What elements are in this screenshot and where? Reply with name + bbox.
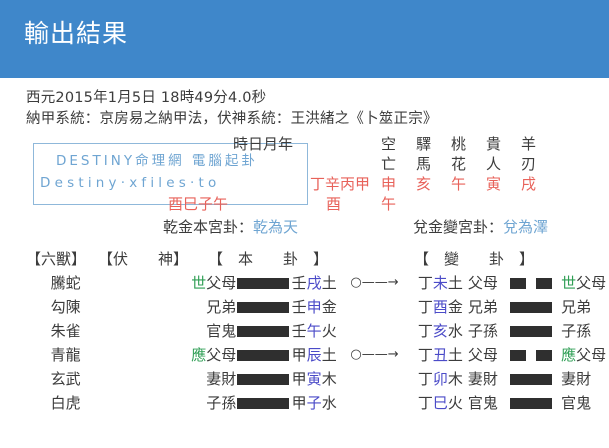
original-hexagram-prefix: 乾金本宮卦：	[163, 218, 253, 236]
changed-yao-line	[505, 350, 558, 361]
main-ganzhi-cell: 壬午火	[290, 319, 340, 343]
shensha-name-top: 空	[380, 134, 397, 154]
main-branch: 戌	[307, 274, 322, 292]
column-header-hidden: 【伏 神】	[98, 247, 208, 271]
system-line: 納甲系統：京房易之納甲法，伏神系統：王洪緒之《卜筮正宗》	[26, 109, 609, 130]
changed-hexagram-prefix: 兌金變宮卦：	[413, 218, 503, 236]
moving-line-arrow: ○——→	[340, 271, 410, 295]
changed-yao-line	[505, 326, 558, 337]
main-branch: 午	[307, 322, 322, 340]
main-yao-line	[236, 278, 289, 289]
changed-yao-line	[505, 398, 558, 409]
changed-yao-line	[505, 278, 558, 289]
changed-branch: 丑	[433, 346, 448, 364]
changed-ganzhi-cell: 丁丑土	[410, 343, 463, 367]
six-beast-cell: 騰蛇	[26, 271, 105, 295]
original-hexagram-name: 乾為天	[253, 218, 298, 236]
changed-relation-cell: 官鬼	[463, 391, 505, 415]
changed-ganzhi-cell: 丁巳火	[410, 391, 463, 415]
four-pillars-header: 時日月年	[233, 134, 353, 154]
changed-relation-cell: 父母	[463, 343, 505, 367]
main-branch: 寅	[307, 370, 322, 388]
main-yao-line	[236, 302, 289, 313]
shensha-value: 寅	[485, 174, 502, 194]
chart-summary-section: DESTINY命理網 電腦起卦 Destiny·xfiles·to 時日月年 酉…	[0, 134, 609, 239]
ying-marker: 應	[561, 346, 576, 364]
yang-line-icon	[237, 302, 289, 313]
yang-line-icon	[237, 326, 289, 337]
yin-line-icon	[510, 350, 552, 361]
hexagram-table: 【六獸】 【伏 神】 【 本 卦 】 【 變 卦 】 騰蛇世父母壬戌土○——→丁…	[0, 247, 609, 415]
shensha-group: 空亡申午驛馬亥 桃花午 貴人寅 羊刃戌	[380, 134, 537, 214]
changed-relation-repeat-cell: 妻財	[558, 367, 609, 391]
main-ganzhi-cell: 甲寅木	[290, 367, 340, 391]
six-beast-cell: 青龍	[26, 343, 105, 367]
page-content: 西元2015年1月5日 18時49分4.0秒 納甲系統：京房易之納甲法，伏神系統…	[0, 78, 609, 415]
shensha-value: 戌	[520, 174, 537, 194]
pillars-columns-label: 時日月年	[233, 134, 353, 154]
table-row: 朱雀官鬼壬午火丁亥水子孫子孫	[26, 319, 609, 343]
changed-branch: 亥	[433, 322, 448, 340]
main-branch: 申	[307, 298, 322, 316]
changed-relation-repeat-cell: 世父母	[558, 271, 609, 295]
table-header-row: 【六獸】 【伏 神】 【 本 卦 】 【 變 卦 】	[26, 247, 609, 271]
main-ganzhi-cell: 甲子水	[290, 391, 340, 415]
column-header-beast: 【六獸】	[26, 247, 98, 271]
main-yao-line	[236, 326, 289, 337]
shensha-column: 空亡申午	[380, 134, 397, 214]
table-row: 騰蛇世父母壬戌土○——→丁未土父母世父母	[26, 271, 609, 295]
shensha-value: 午	[450, 174, 467, 194]
shensha-column: 驛馬亥	[415, 134, 432, 214]
column-header-changed: 【 變 卦 】	[414, 247, 594, 271]
table-row: 白虎子孫甲子水丁巳火官鬼官鬼	[26, 391, 609, 415]
changed-yao-line	[505, 374, 558, 385]
datetime-line: 西元2015年1月5日 18時49分4.0秒	[26, 88, 609, 109]
changed-relation-repeat-cell: 應父母	[558, 343, 609, 367]
shensha-name-top: 驛	[415, 134, 432, 154]
yang-line-icon	[237, 374, 289, 385]
page-title: 輸出結果	[24, 18, 609, 50]
yang-line-icon	[510, 302, 552, 313]
table-row: 玄武妻財甲寅木丁卯木妻財妻財	[26, 367, 609, 391]
changed-relation-repeat-cell: 兄弟	[558, 295, 609, 319]
moving-line-arrow: ○——→	[340, 343, 410, 367]
shensha-column: 羊刃戌	[520, 134, 537, 214]
changed-hexagram-label: 兌金變宮卦：兌為澤	[413, 216, 548, 237]
changed-branch: 未	[433, 274, 448, 292]
six-beast-cell: 玄武	[26, 367, 105, 391]
changed-ganzhi-cell: 丁亥水	[410, 319, 463, 343]
changed-ganzhi-cell: 丁卯木	[410, 367, 463, 391]
shensha-name-top: 羊	[520, 134, 537, 154]
shensha-name-bottom: 花	[450, 154, 467, 174]
yang-line-icon	[510, 326, 552, 337]
yang-line-icon	[237, 398, 289, 409]
main-relation-cell: 妻財	[181, 367, 236, 391]
shensha-value: 申	[380, 174, 397, 194]
main-branch: 子	[307, 394, 322, 412]
meta-block: 西元2015年1月5日 18時49分4.0秒 納甲系統：京房易之納甲法，伏神系統…	[0, 78, 609, 130]
pillars-branches: 酉巳子午	[168, 194, 228, 214]
yang-line-icon	[237, 350, 289, 361]
shensha-value-secondary: 午	[380, 194, 397, 214]
changed-relation-cell: 妻財	[463, 367, 505, 391]
yang-line-icon	[237, 278, 289, 289]
six-beast-cell: 勾陳	[26, 295, 105, 319]
shensha-name-top: 桃	[450, 134, 467, 154]
table-row: 青龍應父母甲辰土○——→丁丑土父母應父母	[26, 343, 609, 367]
changed-relation-cell: 兄弟	[463, 295, 505, 319]
main-yao-line	[236, 350, 289, 361]
main-ganzhi-cell: 甲辰土	[290, 343, 340, 367]
pillars-stems: 丁辛丙甲	[310, 174, 370, 194]
changed-hexagram-name: 兌為澤	[503, 218, 548, 236]
main-yao-line	[236, 374, 289, 385]
main-relation-cell: 兄弟	[181, 295, 236, 319]
main-relation-cell: 子孫	[181, 391, 236, 415]
changed-ganzhi-cell: 丁酉金	[410, 295, 463, 319]
changed-relation-cell: 子孫	[463, 319, 505, 343]
main-relation-cell: 世父母	[181, 271, 236, 295]
shensha-name-bottom: 刃	[520, 154, 537, 174]
ying-marker: 應	[191, 346, 206, 364]
column-header-main: 【 本 卦 】	[208, 247, 414, 271]
site-logo-url: Destiny·xfiles·to	[34, 171, 307, 193]
changed-relation-repeat-cell: 子孫	[558, 319, 609, 343]
shi-marker: 世	[191, 274, 206, 292]
main-ganzhi-cell: 壬戌土	[290, 271, 340, 295]
six-beast-cell: 白虎	[26, 391, 105, 415]
yin-line-icon	[510, 278, 552, 289]
main-yao-line	[236, 398, 289, 409]
changed-yao-line	[505, 302, 558, 313]
pillars-stems-second: 酉	[326, 194, 341, 214]
changed-branch: 酉	[433, 298, 448, 316]
shensha-name-bottom: 人	[485, 154, 502, 174]
changed-relation-repeat-cell: 官鬼	[558, 391, 609, 415]
shensha-value: 亥	[415, 174, 432, 194]
original-hexagram-label: 乾金本宮卦：乾為天	[163, 216, 298, 237]
yang-line-icon	[510, 398, 552, 409]
main-relation-cell: 官鬼	[181, 319, 236, 343]
table-row: 勾陳兄弟壬申金丁酉金兄弟兄弟	[26, 295, 609, 319]
changed-relation-cell: 父母	[463, 271, 505, 295]
shensha-name-bottom: 亡	[380, 154, 397, 174]
six-beast-cell: 朱雀	[26, 319, 105, 343]
shensha-name-top: 貴	[485, 134, 502, 154]
changed-ganzhi-cell: 丁未土	[410, 271, 463, 295]
shensha-column: 貴人寅	[485, 134, 502, 214]
main-branch: 辰	[307, 346, 322, 364]
shensha-column: 桃花午	[450, 134, 467, 214]
changed-branch: 巳	[433, 394, 448, 412]
main-ganzhi-cell: 壬申金	[290, 295, 340, 319]
shi-marker: 世	[561, 274, 576, 292]
changed-branch: 卯	[433, 370, 448, 388]
table-body: 騰蛇世父母壬戌土○——→丁未土父母世父母勾陳兄弟壬申金丁酉金兄弟兄弟朱雀官鬼壬午…	[26, 271, 609, 415]
yang-line-icon	[510, 374, 552, 385]
shensha-name-bottom: 馬	[415, 154, 432, 174]
main-relation-cell: 應父母	[181, 343, 236, 367]
page-header: 輸出結果	[0, 0, 609, 78]
